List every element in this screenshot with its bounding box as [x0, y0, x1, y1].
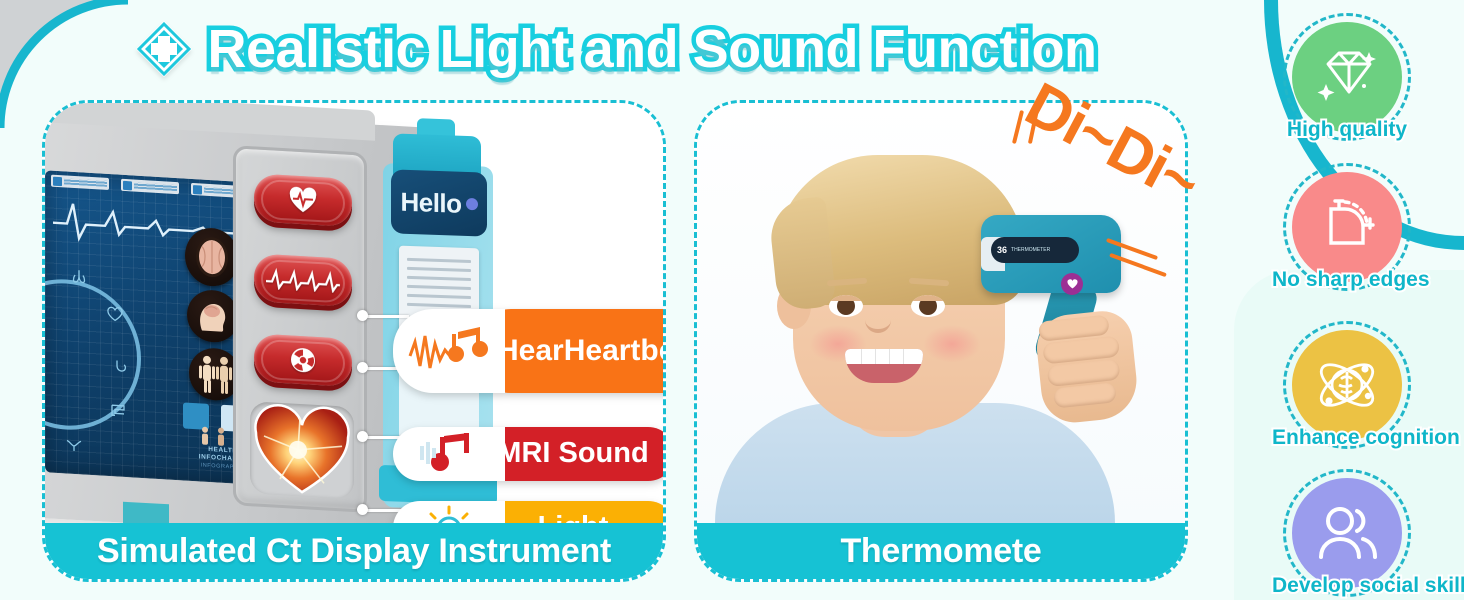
leader-dot-light	[357, 504, 368, 515]
heartbeat-button[interactable]	[254, 173, 352, 226]
rounded-edge-icon	[1315, 195, 1379, 259]
ecg-button[interactable]	[254, 253, 352, 306]
child-eye-right	[911, 295, 945, 317]
badge-circle-no-sharp-edges	[1292, 172, 1402, 282]
heart-pulse-icon	[289, 186, 317, 214]
panel-ct-display: HEALTH INFOCHARTS INFOGRAPHIC	[42, 100, 666, 582]
hello-text: Hello	[400, 186, 461, 219]
glowing-heart-button[interactable]	[250, 401, 354, 499]
leader-dot-mri	[357, 431, 368, 442]
organ-lungs-icon	[71, 268, 87, 285]
caption-ct-display: Simulated Ct Display Instrument	[45, 523, 663, 579]
organ-heart-icon	[107, 306, 123, 323]
thermometer-brand-label: THERMOMETER	[1011, 247, 1050, 253]
badge-label-high-quality: High quality	[1272, 118, 1422, 142]
badge-circle-enhance-cognition	[1292, 330, 1402, 440]
ct-tab	[121, 179, 179, 194]
machine-stand	[123, 502, 169, 523]
badge-circle-high-quality	[1292, 22, 1402, 132]
organ-stomach-icon	[113, 358, 129, 375]
organ-uterus-icon	[65, 437, 83, 454]
badge-label-develop-social-skill: Develop social skill	[1272, 574, 1422, 598]
badge-develop-social-skill: Develop social skill	[1272, 478, 1422, 598]
caption-thermometer: Thermomete	[697, 523, 1185, 579]
child-hand	[1034, 308, 1141, 425]
organ-intestine-icon	[109, 402, 127, 419]
thermometer-body: 36 THERMOMETER	[981, 215, 1121, 293]
callout-line1: Hear	[497, 336, 564, 367]
light-bulb-icon	[393, 501, 505, 523]
leader-dot-ecg	[357, 362, 368, 373]
badge-no-sharp-edges: No sharp edges	[1272, 172, 1422, 292]
heart-icon	[1067, 279, 1078, 289]
control-button-bezel	[233, 145, 367, 512]
mri-button[interactable]	[254, 333, 352, 386]
thermometer-reading: 36	[997, 245, 1007, 255]
atom-brain-icon	[1311, 349, 1383, 421]
glowing-heart-icon	[250, 401, 354, 499]
thermometer-display: 36 THERMOMETER	[991, 237, 1079, 263]
medical-cross-badge-icon	[134, 19, 194, 79]
radiation-icon	[290, 346, 316, 373]
callout-line2: Heartbeats	[564, 336, 663, 367]
feature-badge-column: High quality No sharp edges	[1228, 0, 1464, 600]
ecg-wave-icon	[266, 267, 340, 293]
callout-light[interactable]: Light	[393, 501, 663, 523]
ct-tab	[51, 175, 109, 190]
callout-hear-heartbeats[interactable]: Hear Heartbeats	[393, 309, 663, 393]
badge-label-enhance-cognition: Enhance cognition	[1272, 426, 1422, 450]
badge-label-no-sharp-edges: No sharp edges	[1272, 268, 1422, 292]
sound-wave-music-note-icon	[393, 309, 505, 393]
leader-dot-heartbeats	[357, 310, 368, 321]
badge-enhance-cognition: Enhance cognition	[1272, 330, 1422, 450]
badge-circle-develop-social-skill	[1292, 478, 1402, 588]
child-eye-left	[829, 295, 863, 317]
page-title: Realistic Light and Sound Function	[208, 18, 1097, 80]
ct-scan-head-profile	[187, 289, 239, 344]
ct-machine-illustration: HEALTH INFOCHARTS INFOGRAPHIC	[45, 103, 663, 523]
screen-indicator-dot	[466, 198, 478, 210]
diamond-icon	[1312, 46, 1382, 108]
people-icon	[1313, 501, 1381, 565]
callout-mri-sound[interactable]: MRI Sound	[393, 427, 663, 481]
machine-top-edge	[45, 103, 375, 141]
badge-high-quality: High quality	[1272, 22, 1422, 142]
child-teeth	[845, 349, 923, 364]
page-canvas: Realistic Light and Sound Function	[0, 0, 1464, 600]
music-note-icon	[393, 427, 505, 481]
thermometer-power-button[interactable]	[1061, 273, 1083, 295]
module-screen: Hello	[391, 169, 487, 236]
child-hair-side	[767, 196, 836, 311]
